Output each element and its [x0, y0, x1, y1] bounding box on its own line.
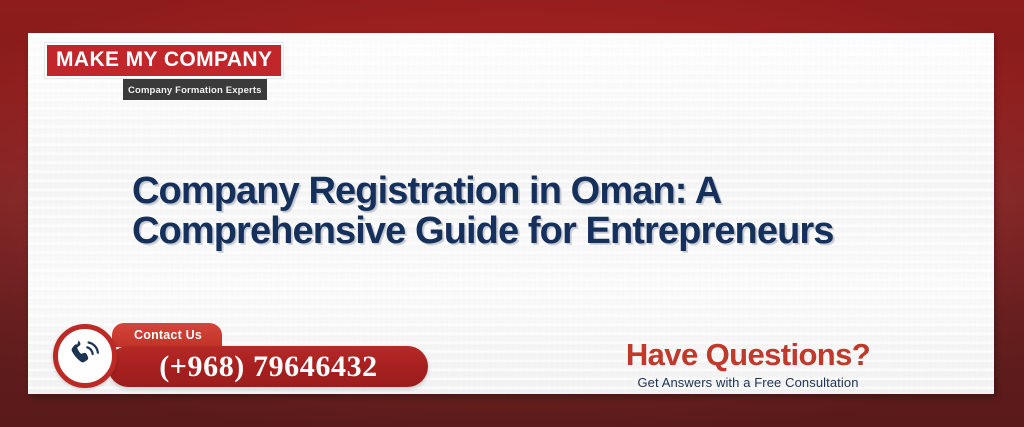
headline: Company Registration in Oman: A Comprehe…: [132, 171, 932, 251]
headline-line-1: Company Registration in Oman: A: [132, 171, 932, 211]
contact-us-label: Contact Us: [134, 328, 202, 342]
logo-primary-box: MAKE MY COMPANY: [45, 43, 283, 78]
questions-subtitle: Get Answers with a Free Consultation: [598, 375, 898, 391]
logo-tagline-box: Company Formation Experts: [123, 79, 267, 100]
headline-line-2: Comprehensive Guide for Entrepreneurs: [132, 211, 932, 251]
phone-icon: [67, 338, 103, 374]
contact-us-tab: Contact Us: [112, 323, 222, 347]
promo-banner: MAKE MY COMPANY Company Formation Expert…: [0, 0, 1024, 427]
logo-company-name: MAKE MY COMPANY: [56, 48, 272, 71]
logo-tagline: Company Formation Experts: [128, 85, 262, 96]
questions-title: Have Questions?: [598, 338, 898, 372]
questions-block: Have Questions? Get Answers with a Free …: [598, 338, 898, 391]
company-logo[interactable]: MAKE MY COMPANY Company Formation Expert…: [45, 43, 275, 100]
contact-phone-number[interactable]: (+968) 79646432: [116, 349, 421, 385]
contact-block[interactable]: Contact Us (+968) 79646432: [50, 318, 410, 394]
banner-panel: MAKE MY COMPANY Company Formation Expert…: [28, 33, 994, 394]
phone-icon-badge: [53, 324, 117, 388]
